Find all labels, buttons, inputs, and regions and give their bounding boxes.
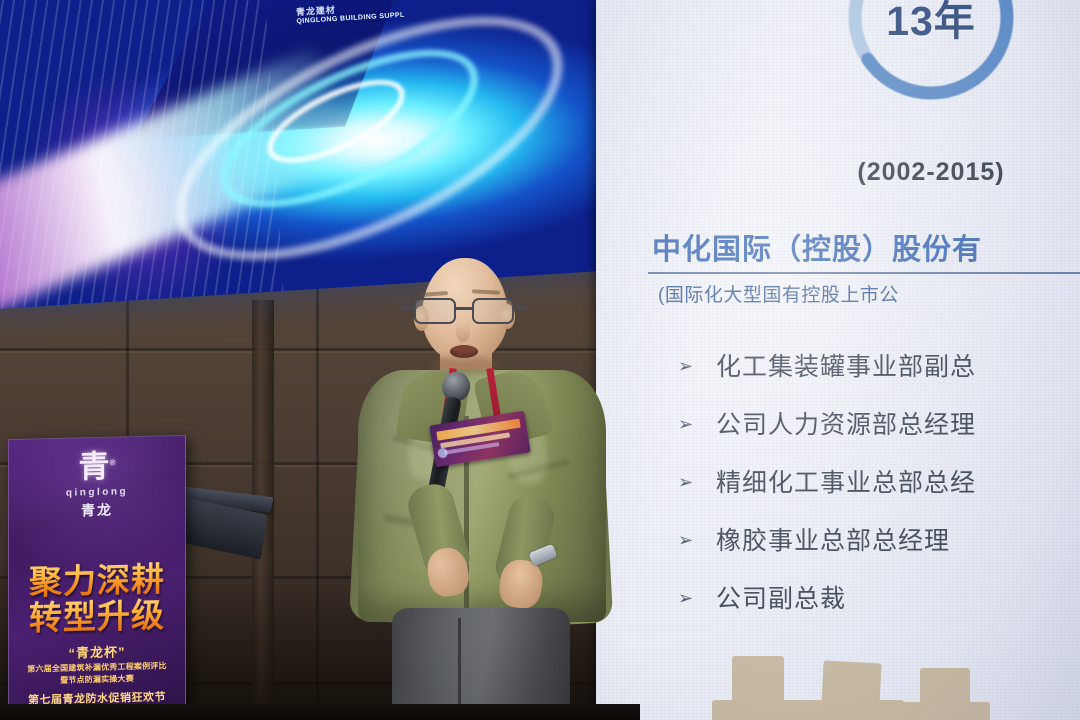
company-name: 中化国际（控股）股份有 xyxy=(652,226,1080,268)
projection-screen: 13年 (2002-2015) 中化国际（控股）股份有 (国际化大型国有控股上市… xyxy=(596,0,1080,720)
arrow-bullet-icon: ➢ xyxy=(678,410,696,440)
list-item: ➢ 精细化工事业总部总经 xyxy=(678,468,1080,526)
company-underline xyxy=(648,272,1080,274)
list-item-label: 公司人力资源部总经理 xyxy=(716,410,976,440)
years-range-label: (2002-2015) xyxy=(796,158,1066,187)
arrow-bullet-icon: ➢ xyxy=(678,352,696,382)
registered-trademark-icon: ® xyxy=(109,458,116,467)
list-item: ➢ 橡胶事业总部总经理 xyxy=(678,526,1080,584)
speaker-person xyxy=(352,248,612,720)
people-silhouette-graphic xyxy=(596,630,1080,720)
list-item-label: 化工集装罐事业部副总 xyxy=(716,352,976,382)
list-item: ➢ 化工集装罐事业部副总 xyxy=(678,352,1080,410)
logo-glyph-text: 青 xyxy=(79,449,109,486)
list-item-label: 橡胶事业总部总经理 xyxy=(716,526,950,556)
conference-stage-photo: 青龙建材 QINGLONG BUILDING SUPPL 13年 (2002-2… xyxy=(0,0,1080,720)
gauge-value-label: 13年 xyxy=(836,0,1026,112)
company-subtitle: (国际化大型国有控股上市公 xyxy=(658,280,1080,307)
arrow-bullet-icon: ➢ xyxy=(678,468,696,498)
arrow-bullet-icon: ➢ xyxy=(678,526,696,556)
qinglong-logo: 青® qinglong 青龙 xyxy=(9,450,185,522)
banner-headline-line2: 转型升级 xyxy=(9,588,185,640)
eyeglasses xyxy=(412,298,518,324)
role-bullet-list: ➢ 化工集装罐事业部副总 ➢ 公司人力资源部总经理 ➢ 精细化工事业总部总经 ➢… xyxy=(678,352,1080,642)
arrow-bullet-icon: ➢ xyxy=(678,584,696,614)
lens-right xyxy=(472,298,514,324)
nose xyxy=(456,322,470,342)
glasses-temple-left xyxy=(402,306,414,309)
lens-left xyxy=(414,298,456,324)
glasses-bridge xyxy=(456,307,474,310)
logo-glyph: 青® xyxy=(9,450,185,485)
years-gauge: 13年 xyxy=(836,0,1026,112)
stage-floor xyxy=(0,704,640,720)
glasses-temple-right xyxy=(516,306,528,309)
list-item: ➢ 公司人力资源部总经理 xyxy=(678,410,1080,468)
list-item-label: 精细化工事业总部总经 xyxy=(716,468,976,498)
podium-banner: 青® qinglong 青龙 聚力深耕 转型升级 “青龙杯” 第六届全国建筑补漏… xyxy=(8,435,186,720)
list-item-label: 公司副总裁 xyxy=(716,584,846,614)
